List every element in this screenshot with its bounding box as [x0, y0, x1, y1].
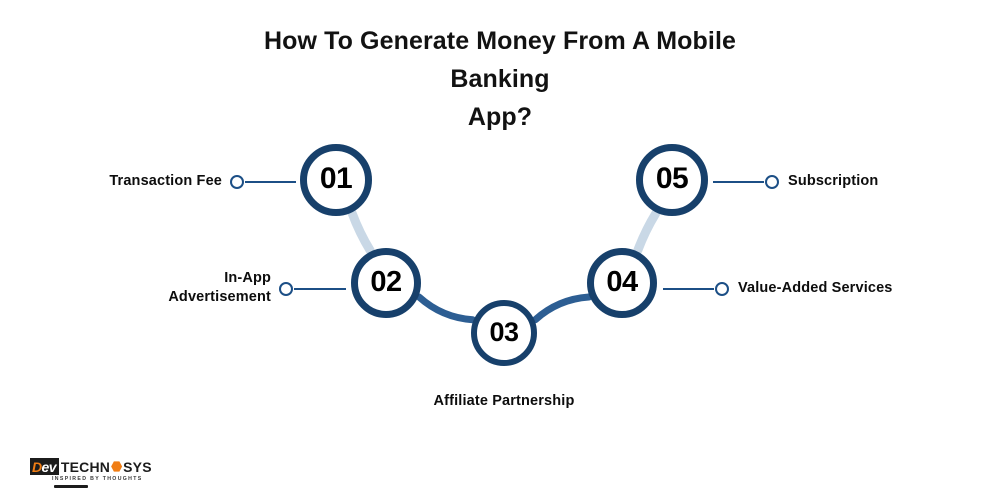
step-circle-01[interactable]: 01 — [300, 144, 372, 216]
process-flow-diagram — [0, 0, 1000, 500]
step-label-02: In-App Advertisement — [11, 269, 271, 307]
logo-dev-badge: Dev — [30, 458, 59, 475]
step-label-05: Subscription — [788, 172, 1000, 191]
logo-technosys-text: TECHNSYS — [59, 458, 152, 475]
logo-wordmark: Dev TECHNSYS — [30, 458, 150, 475]
flow-link-04-05 — [638, 213, 656, 250]
step-circle-05[interactable]: 05 — [636, 144, 708, 216]
devtechnosys-logo: Dev TECHNSYS INSPIRED BY THOUGHTS — [30, 458, 150, 490]
step-number-04: 04 — [606, 268, 637, 297]
step-number-01: 01 — [320, 164, 352, 194]
logo-dev-accent: D — [32, 460, 42, 474]
connector-dot-01 — [231, 176, 243, 188]
step-number-03: 03 — [489, 319, 518, 346]
step-label-03: Affiliate Partnership — [354, 392, 654, 411]
step-label-04: Value-Added Services — [738, 279, 998, 298]
hexagon-gear-icon — [111, 461, 122, 472]
flow-link-03-04 — [535, 297, 589, 320]
step-number-05: 05 — [656, 164, 688, 194]
logo-tech-right: SYS — [123, 460, 152, 474]
connector-dot-04 — [716, 283, 728, 295]
step-circle-02[interactable]: 02 — [351, 248, 421, 318]
step-label-01: Transaction Fee — [0, 172, 222, 191]
connector-dot-05 — [766, 176, 778, 188]
flow-link-01-02 — [352, 213, 370, 250]
flow-link-02-03 — [419, 297, 473, 320]
step-circle-03[interactable]: 03 — [471, 300, 537, 366]
logo-dev-rest: ev — [42, 460, 56, 474]
infographic-canvas: How To Generate Money From A Mobile Bank… — [0, 0, 1000, 500]
logo-tagline: INSPIRED BY THOUGHTS — [30, 476, 150, 482]
logo-tech-left: TECHN — [61, 460, 110, 474]
step-circle-04[interactable]: 04 — [587, 248, 657, 318]
connector-dot-02 — [280, 283, 292, 295]
logo-stand-bar — [54, 485, 88, 488]
step-number-02: 02 — [370, 268, 401, 297]
